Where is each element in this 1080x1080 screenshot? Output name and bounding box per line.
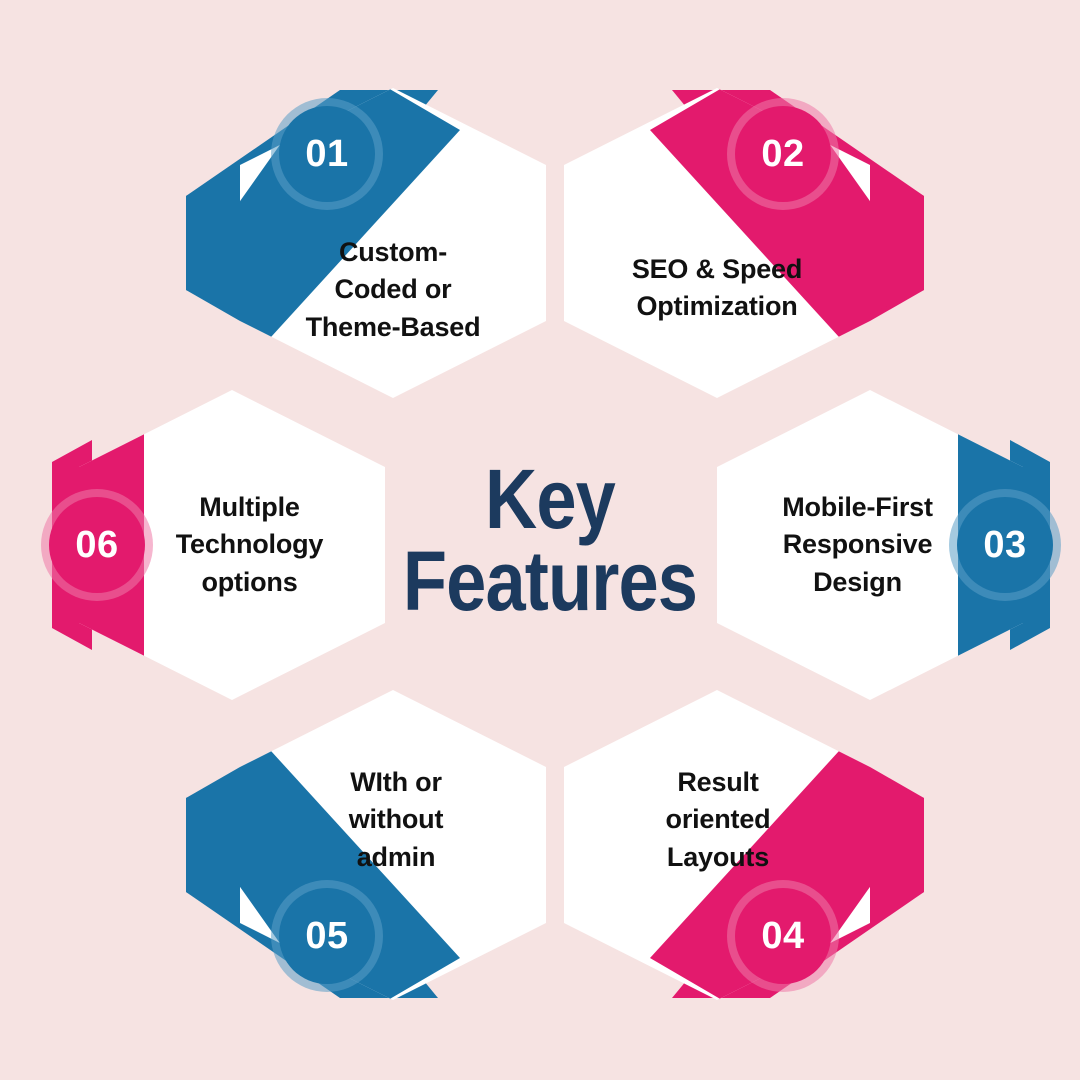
hexagon-card-03[interactable] (717, 380, 1061, 700)
key-features-infographic: Key Features Custom- Coded or Theme-Base… (0, 0, 1080, 1080)
badge-circle-03[interactable] (957, 497, 1053, 593)
hexagon-card-06[interactable] (41, 380, 385, 700)
hexagon-diagram-canvas (0, 0, 1080, 1080)
badge-circle-05[interactable] (279, 888, 375, 984)
hexagon-card-01[interactable] (170, 60, 546, 398)
hexagon-card-04[interactable] (564, 690, 940, 1028)
badge-circle-04[interactable] (735, 888, 831, 984)
badge-circle-01[interactable] (279, 106, 375, 202)
badge-circle-02[interactable] (735, 106, 831, 202)
hexagon-card-02[interactable] (564, 60, 940, 398)
badge-circle-06[interactable] (49, 497, 145, 593)
hexagon-card-05[interactable] (170, 690, 546, 1028)
